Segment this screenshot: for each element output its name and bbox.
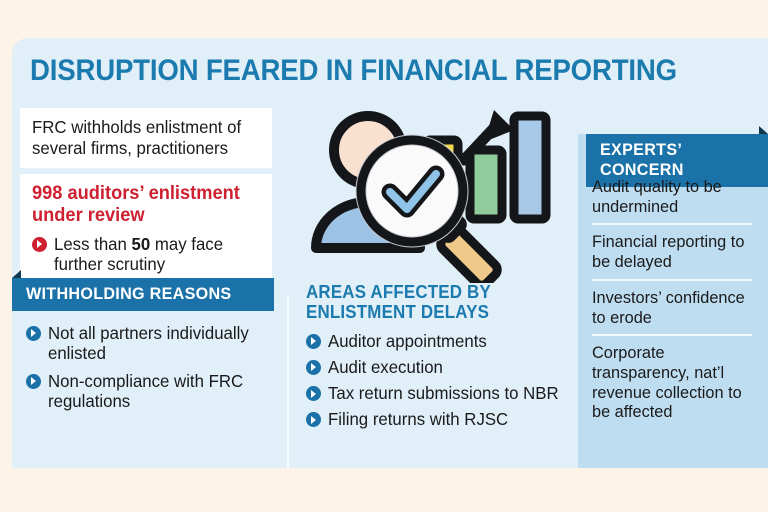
chevron-right-icon [306, 360, 321, 375]
list-item: Tax return submissions to NBR [306, 383, 580, 403]
list-item-label: Tax return submissions to NBR [328, 383, 559, 403]
chevron-right-icon [26, 374, 41, 389]
areas-affected-list: Auditor appointments Audit execution Tax… [306, 331, 580, 430]
chevron-right-icon [26, 326, 41, 341]
page-title: DISRUPTION FEARED IN FINANCIAL REPORTING [30, 54, 677, 88]
column-divider [287, 296, 289, 468]
magnifier-check-icon [361, 140, 463, 242]
illustration-svg [308, 98, 578, 283]
infographic-page: DISRUPTION FEARED IN FINANCIAL REPORTING… [0, 0, 768, 512]
frc-statement-box: FRC withholds enlistment of several firm… [20, 108, 272, 168]
list-item-label: Financial reporting to be delayed [592, 225, 755, 278]
banner-fold-icon [759, 126, 768, 134]
list-item-label: Corporate transparency, nat’l revenue co… [592, 336, 755, 429]
list-item: Not all partners individually enlisted [26, 323, 284, 364]
list-item-label: Auditor appointments [328, 331, 487, 351]
list-item: Filing returns with RJSC [306, 409, 580, 429]
chevron-right-icon [306, 334, 321, 349]
areas-affected-line1: AREAS AFFECTED BY [306, 282, 491, 302]
auditors-review-box: 998 auditors’ enlistment under review Le… [20, 174, 272, 288]
auditor-analysis-illustration [308, 98, 578, 283]
withholding-reasons-label: WITHHOLDING REASONS [26, 284, 250, 304]
list-item: Non-compliance with FRC regulations [26, 371, 284, 412]
center-column: AREAS AFFECTED BY ENLISTMENT DELAYS Audi… [302, 98, 580, 430]
withholding-reasons-banner: WITHHOLDING REASONS [12, 278, 274, 311]
areas-affected-heading: AREAS AFFECTED BY ENLISTMENT DELAYS [306, 283, 564, 323]
auditors-review-headline: 998 auditors’ enlistment under review [32, 183, 251, 226]
infographic-card: DISRUPTION FEARED IN FINANCIAL REPORTING… [12, 38, 768, 468]
chevron-right-icon [306, 412, 321, 427]
experts-concern-panel: EXPERTS’ CONCERN Audit quality to be und… [578, 134, 768, 468]
list-item: Less than 50 may face further scrutiny [32, 234, 260, 275]
left-column: FRC withholds enlistment of several firm… [20, 108, 282, 288]
chevron-right-icon [306, 386, 321, 401]
list-item-label: Investors’ confidence to erode [592, 281, 755, 334]
frc-statement-text: FRC withholds enlistment of several firm… [32, 117, 251, 158]
chevron-right-icon [32, 237, 47, 252]
list-item-label: Non-compliance with FRC regulations [48, 371, 275, 412]
list-item: Audit execution [306, 357, 580, 377]
scrutiny-note: Less than 50 may face further scrutiny [54, 234, 252, 275]
areas-affected-line2: ENLISTMENT DELAYS [306, 302, 489, 322]
list-item-label: Filing returns with RJSC [328, 409, 508, 429]
withholding-reasons-list: Not all partners individually enlisted N… [26, 316, 284, 411]
list-item: Auditor appointments [306, 331, 580, 351]
list-item-label: Audit quality to be undermined [592, 170, 755, 223]
banner-fold-icon [12, 270, 21, 278]
list-item-label: Not all partners individually enlisted [48, 323, 275, 364]
experts-concern-list: Audit quality to be undermined Financial… [592, 170, 762, 429]
list-item-label: Audit execution [328, 357, 443, 377]
